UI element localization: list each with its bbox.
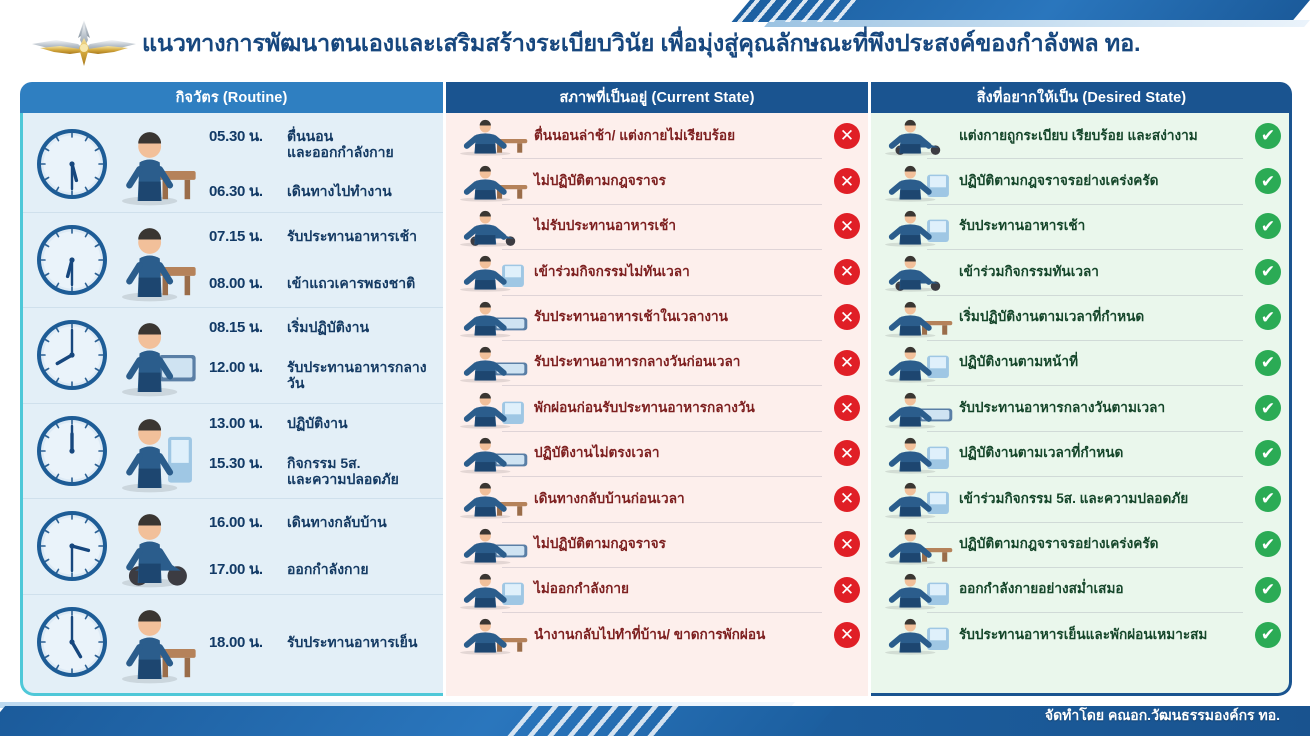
routine-item-group: 05.30 น.ตื่นนอนและออกกำลังกาย06.30 น.เดิ… [203,117,443,212]
state-text: ปฏิบัติงานไม่ตรงเวลา [534,445,834,461]
officer-eating-lunch-on-time-icon [875,387,959,430]
man-at-laptop-with-clock-icon [450,341,534,384]
cross-icon: ✕ [834,304,860,330]
bottom-banner-stripes [507,706,682,736]
routine-label: ตื่นนอนและออกกำลังกาย [287,128,394,160]
man-eating-breakfast-at-desk-icon [450,296,534,339]
state-row: เข้าร่วมกิจกรรม 5ส. และความปลอดภัย✔ [871,476,1289,521]
routine-item: 15.30 น.กิจกรรม 5ส.และความปลอดภัย [209,455,443,487]
officer-starting-work-on-time-icon [875,296,959,339]
current-state-list: ตื่นนอนล่าช้า/ แต่งกายไม่เรียบร้อย✕ไม่ปฏ… [446,113,868,696]
check-icon: ✔ [1255,440,1281,466]
state-text: รับประทานอาหารเช้าในเวลางาน [534,309,834,325]
cross-icon: ✕ [834,486,860,512]
column-header-desired: สิ่งที่อยากให้เป็น (Desired State) [871,82,1292,113]
page-title: แนวทางการพัฒนาตนเองและเสริมสร้างระเบียบว… [142,31,1140,57]
routine-item: 13.00 น.ปฏิบัติงาน [209,415,443,432]
check-icon: ✔ [1255,350,1281,376]
column-header-current: สภาพที่เป็นอยู่ (Current State) [446,82,868,113]
routine-label: รับประทานอาหารเช้า [287,228,417,244]
row-divider [927,476,1243,477]
man-riding-motorcycle-icon [111,216,203,304]
routine-item: 06.30 น.เดินทางไปทำงาน [209,183,443,200]
row-divider [927,295,1243,296]
empty-plate-fork-knife-icon [450,205,534,248]
rider-with-helmet-at-traffic-light-icon [875,160,959,203]
officer-saluting-neat-uniform-icon [875,114,959,157]
officer-working-with-clock-icon [875,432,959,475]
state-text: เริ่มปฏิบัติงานตามเวลาที่กำหนด [959,309,1255,325]
state-row: ไม่ออกกำลังกาย✕ [446,567,868,612]
check-icon: ✔ [1255,622,1281,648]
routine-item: 16.00 น.เดินทางกลับบ้าน [209,514,443,531]
state-row: รับประทานอาหารเช้า✔ [871,204,1289,249]
routine-label-line1: กิจกรรม 5ส. [287,455,361,471]
state-text: เข้าร่วมกิจกรรมทันเวลา [959,264,1255,280]
desired-state-list: แต่งกายถูกระเบียบ เรียบร้อย และสง่างาม✔ป… [871,113,1289,693]
state-row: พักผ่อนก่อนรับประทานอาหารกลางวัน✕ [446,385,868,430]
routine-time: 06.30 น. [209,183,279,200]
routine-item: 17.00 น.ออกกำลังกาย [209,561,443,578]
routine-body: 05.30 น.ตื่นนอนและออกกำลังกาย06.30 น.เดิ… [20,113,443,696]
column-current-state: สภาพที่เป็นอยู่ (Current State) ตื่นนอนล… [446,82,868,696]
state-text: รับประทานอาหารกลางวันก่อนเวลา [534,354,834,370]
state-row: ปฏิบัติตามกฎจราจรอย่างเคร่งครัด✔ [871,522,1289,567]
row-divider [502,249,822,250]
row-divider [927,431,1243,432]
infographic-page: แนวทางการพัฒนาตนเองและเสริมสร้างระเบียบว… [0,0,1310,736]
routine-group: 07.15 น.รับประทานอาหารเช้า08.00 น.เข้าแถ… [23,213,443,309]
state-text: ตื่นนอนล่าช้า/ แต่งกายไม่เรียบร้อย [534,128,834,144]
routine-label-line1: ออกกำลังกาย [287,561,369,577]
clock-icon [35,509,109,583]
state-text: ไม่รับประทานอาหารเช้า [534,218,834,234]
routine-item: 12.00 น.รับประทานอาหารกลางวัน [209,359,443,391]
routine-label-line1: รับประทานอาหารเย็น [287,634,417,650]
routine-label: เดินทางกลับบ้าน [287,514,387,530]
check-icon: ✔ [1255,486,1281,512]
routine-item: 05.30 น.ตื่นนอนและออกกำลังกาย [209,128,443,160]
officer-having-breakfast-icon [875,205,959,248]
routine-item-group: 18.00 น.รับประทานอาหารเย็น [203,595,443,691]
state-row: ไม่ปฏิบัติตามกฎจราจร✕ [446,522,868,567]
routine-label: รับประทานอาหารกลางวัน [287,359,443,391]
routine-time: 08.15 น. [209,319,279,336]
check-icon: ✔ [1255,123,1281,149]
cross-icon: ✕ [834,213,860,239]
state-text: รับประทานอาหารเช้า [959,218,1255,234]
cross-icon: ✕ [834,622,860,648]
routine-label-line1: รับประทานอาหารกลางวัน [287,359,427,391]
clock-icon [35,223,109,297]
check-icon: ✔ [1255,395,1281,421]
routine-time: 15.30 น. [209,455,279,472]
man-working-at-night-on-laptop-icon [450,613,534,656]
state-text: รับประทานอาหารเย็นและพักผ่อนเหมาะสม [959,627,1255,643]
cross-icon: ✕ [834,577,860,603]
no-helmet-sign-icon [450,160,534,203]
clock-icon [35,127,109,201]
routine-group: 08.15 น.เริ่มปฏิบัติงาน12.00 น.รับประทาน… [23,308,443,404]
state-row: ตื่นนอนล่าช้า/ แต่งกายไม่เรียบร้อย✕ [446,113,868,158]
row-divider [927,567,1243,568]
state-text: ออกกำลังกายอย่างสม่ำเสมอ [959,581,1255,597]
cross-icon: ✕ [834,259,860,285]
clock-icon [35,414,109,488]
state-text: นำงานกลับไปทำที่บ้าน/ ขาดการพักผ่อน [534,627,834,643]
two-officers-5s-activity-icon [875,477,959,520]
check-icon: ✔ [1255,213,1281,239]
routine-label-line1: เริ่มปฏิบัติงาน [287,319,369,335]
state-row: ปฏิบัติงานตามเวลาที่กำหนด✔ [871,431,1289,476]
state-row: ปฏิบัติตามกฎจราจรอย่างเคร่งครัด✔ [871,158,1289,203]
column-desired-state: สิ่งที่อยากให้เป็น (Desired State) แต่งก… [871,82,1292,696]
bottom-banner-bar [0,706,835,736]
routine-time: 13.00 น. [209,415,279,432]
routine-label-line1: เดินทางกลับบ้าน [287,514,387,530]
routine-item: 08.15 น.เริ่มปฏิบัติงาน [209,319,443,336]
cross-icon: ✕ [834,123,860,149]
man-slouching-at-computer-icon [450,432,534,475]
state-text: เข้าร่วมกิจกรรมไม่ทันเวลา [534,264,834,280]
state-row: ปฏิบัติงานไม่ตรงเวลา✕ [446,431,868,476]
column-gutter-2 [868,82,871,696]
man-napping-on-chair-icon [450,387,534,430]
routine-label-line1: รับประทานอาหารเช้า [287,228,417,244]
row-divider [927,522,1243,523]
state-row: รับประทานอาหารเช้าในเวลางาน✕ [446,295,868,340]
routine-group: 18.00 น.รับประทานอาหารเย็น [23,595,443,691]
state-text: แต่งกายถูกระเบียบ เรียบร้อย และสง่างาม [959,128,1255,144]
footer-credit: จัดทำโดย คณอก.วัฒนธรรมองค์กร ทอ. [1045,705,1280,727]
routine-label-line1: ปฏิบัติงาน [287,415,348,431]
comparison-table: กิจวัตร (Routine) 05.30 น.ตื่นนอนและออกก… [20,82,1292,696]
routine-label-line2: และออกกำลังกาย [287,144,394,160]
clock-icon [35,318,109,392]
row-divider [502,522,822,523]
routine-label: เข้าแถวเคารพธงชาติ [287,275,415,291]
clock-icon [35,605,109,679]
routine-label: เริ่มปฏิบัติงาน [287,319,369,335]
state-text: ปฏิบัติงานตามหน้าที่ [959,354,1255,370]
family-having-dinner-icon [875,613,959,656]
man-on-sofa-watching-tv-icon [450,568,534,611]
state-text: เข้าร่วมกิจกรรม 5ส. และความปลอดภัย [959,491,1255,507]
check-icon: ✔ [1255,168,1281,194]
row-divider [502,158,822,159]
routine-item-group: 07.15 น.รับประทานอาหารเช้า08.00 น.เข้าแถ… [203,213,443,308]
state-text: พักผ่อนก่อนรับประทานอาหารกลางวัน [534,400,834,416]
row-divider [502,340,822,341]
state-text: ไม่ออกกำลังกาย [534,581,834,597]
routine-group: 13.00 น.ปฏิบัติงาน15.30 น.กิจกรรม 5ส.และ… [23,404,443,500]
check-icon: ✔ [1255,577,1281,603]
state-text: ปฏิบัติตามกฎจราจรอย่างเคร่งครัด [959,173,1255,189]
routine-label: เดินทางไปทำงาน [287,183,392,199]
column-gutter-1 [443,82,446,696]
row-divider [502,431,822,432]
cars-in-traffic-accident-icon [450,523,534,566]
column-header-routine: กิจวัตร (Routine) [20,82,443,113]
routine-time: 08.00 น. [209,275,279,292]
state-row: รับประทานอาหารกลางวันก่อนเวลา✕ [446,340,868,385]
routine-label-line2: และความปลอดภัย [287,471,399,487]
man-oversleeping-in-messy-room-icon [450,114,534,157]
state-row: ไม่ปฏิบัติตามกฎจราจร✕ [446,158,868,203]
routine-list: 05.30 น.ตื่นนอนและออกกำลังกาย06.30 น.เดิ… [23,113,443,693]
routine-time: 17.00 น. [209,561,279,578]
man-lifting-dumbbells-icon [875,568,959,611]
column-routine: กิจวัตร (Routine) 05.30 น.ตื่นนอนและออกก… [20,82,443,696]
state-text: ปฏิบัติงานตามเวลาที่กำหนด [959,445,1255,461]
state-text: ปฏิบัติตามกฎจราจรอย่างเคร่งครัด [959,536,1255,552]
row-divider [502,385,822,386]
routine-label-line1: เดินทางไปทำงาน [287,183,392,199]
row-divider [502,567,822,568]
routine-time: 07.15 น. [209,228,279,245]
state-row: รับประทานอาหารกลางวันตามเวลา✔ [871,385,1289,430]
row-divider [502,295,822,296]
state-row: ปฏิบัติงานตามหน้าที่✔ [871,340,1289,385]
row-divider [927,204,1243,205]
row-divider [927,385,1243,386]
state-text: ไม่ปฏิบัติตามกฎจราจร [534,536,834,552]
car-obeying-traffic-signs-icon [875,523,959,566]
routine-time: 12.00 น. [209,359,279,376]
routine-label-line1: ตื่นนอน [287,128,333,144]
row-divider [502,476,822,477]
routine-label: ออกกำลังกาย [287,561,369,577]
routine-item-group: 13.00 น.ปฏิบัติงาน15.30 น.กิจกรรม 5ส.และ… [203,404,443,499]
state-row: เข้าร่วมกิจกรรมไม่ทันเวลา✕ [446,249,868,294]
state-text: รับประทานอาหารกลางวันตามเวลา [959,400,1255,416]
routine-item: 08.00 น.เข้าแถวเคารพธงชาติ [209,275,443,292]
state-row: เริ่มปฏิบัติงานตามเวลาที่กำหนด✔ [871,295,1289,340]
check-icon: ✔ [1255,531,1281,557]
routine-label: กิจกรรม 5ส.และความปลอดภัย [287,455,399,487]
routine-group: 16.00 น.เดินทางกลับบ้าน17.00 น.ออกกำลังก… [23,499,443,595]
check-icon: ✔ [1255,304,1281,330]
man-sneaking-out-door-icon [450,477,534,520]
state-row: นำงานกลับไปทำที่บ้าน/ ขาดการพักผ่อน✕ [446,612,868,657]
routine-item-group: 08.15 น.เริ่มปฏิบัติงาน12.00 น.รับประทาน… [203,308,443,403]
routine-time: 05.30 น. [209,128,279,145]
cross-icon: ✕ [834,395,860,421]
cross-icon: ✕ [834,350,860,376]
routine-label: ปฏิบัติงาน [287,415,348,431]
row-divider [927,249,1243,250]
desired-body: แต่งกายถูกระเบียบ เรียบร้อย และสง่างาม✔ป… [871,113,1292,696]
check-icon: ✔ [1255,259,1281,285]
state-row: แต่งกายถูกระเบียบ เรียบร้อย และสง่างาม✔ [871,113,1289,158]
routine-item: 07.15 น.รับประทานอาหารเช้า [209,228,443,245]
state-text: ไม่ปฏิบัติตามกฎจราจร [534,173,834,189]
row-divider [927,340,1243,341]
state-row: ไม่รับประทานอาหารเช้า✕ [446,204,868,249]
routine-group: 05.30 น.ตื่นนอนและออกกำลังกาย06.30 น.เดิ… [23,117,443,213]
man-filing-and-riding-home-icon [111,502,203,590]
state-row: เข้าร่วมกิจกรรมทันเวลา✔ [871,249,1289,294]
row-divider [927,612,1243,613]
routine-label-line1: เข้าแถวเคารพธงชาติ [287,275,415,291]
man-waking-on-bed-icon [111,120,203,208]
page-header: แนวทางการพัฒนาตนเองและเสริมสร้างระเบียบว… [0,18,1300,70]
routine-time: 16.00 น. [209,514,279,531]
man-saluting-thai-flag-icon [111,311,203,399]
routine-label: รับประทานอาหารเย็น [287,634,417,650]
state-text: เดินทางกลับบ้านก่อนเวลา [534,491,834,507]
row-divider [502,204,822,205]
cross-icon: ✕ [834,440,860,466]
row-divider [927,158,1243,159]
routine-item: 18.00 น.รับประทานอาหารเย็น [209,634,443,651]
rtaf-wing-emblem-icon [30,18,138,70]
row-divider [502,612,822,613]
people-running-and-family-dinner-icon [111,598,203,686]
routine-item-group: 16.00 น.เดินทางกลับบ้าน17.00 น.ออกกำลังก… [203,499,443,594]
man-running-late-to-flag-icon [450,250,534,293]
routine-time: 18.00 น. [209,634,279,651]
officer-saluting-thai-flag-icon [875,250,959,293]
cross-icon: ✕ [834,531,860,557]
man-eating-lunch-and-desk-work-icon [111,407,203,495]
current-body: ตื่นนอนล่าช้า/ แต่งกายไม่เรียบร้อย✕ไม่ปฏ… [446,113,868,696]
state-row: รับประทานอาหารเย็นและพักผ่อนเหมาะสม✔ [871,612,1289,657]
state-row: เดินทางกลับบ้านก่อนเวลา✕ [446,476,868,521]
cross-icon: ✕ [834,168,860,194]
state-row: ออกกำลังกายอย่างสม่ำเสมอ✔ [871,567,1289,612]
officer-working-at-desk-icon [875,341,959,384]
